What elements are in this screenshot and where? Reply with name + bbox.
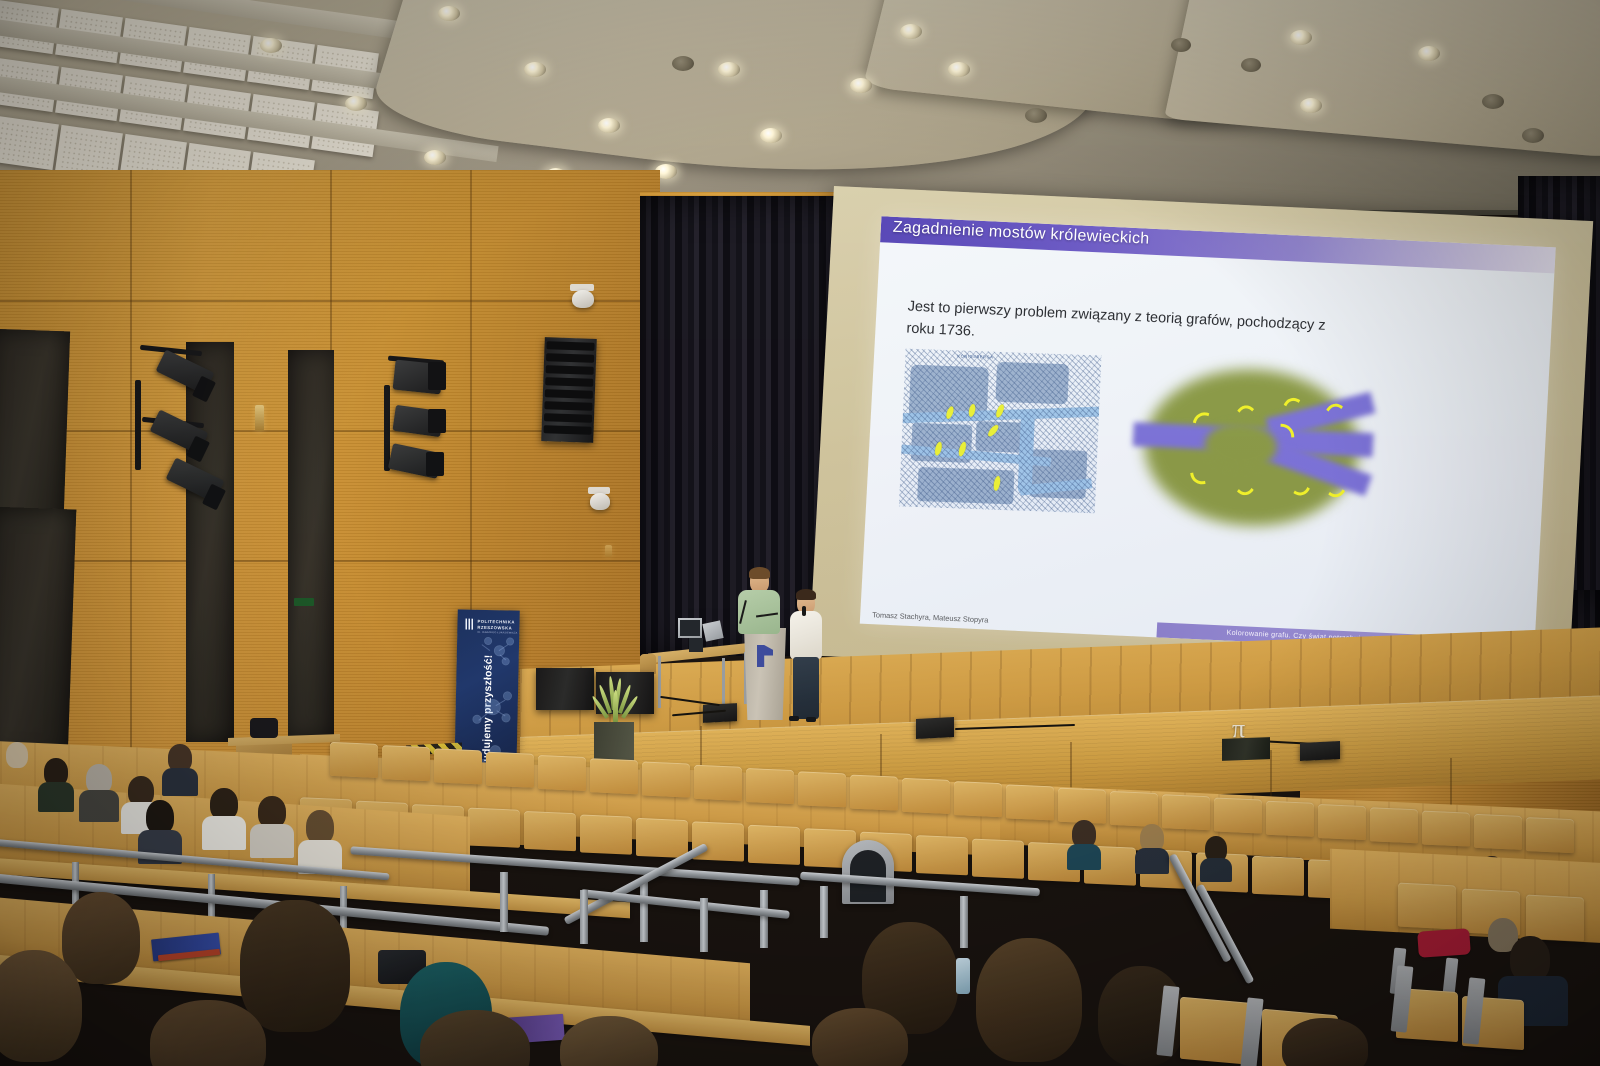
monitor-screen xyxy=(689,638,703,652)
ceiling-downlight xyxy=(1300,98,1322,113)
seat[interactable] xyxy=(850,775,898,811)
pa-speaker xyxy=(536,668,594,710)
seat[interactable] xyxy=(382,745,430,781)
spotlight-barn-door xyxy=(428,362,446,390)
seat[interactable] xyxy=(1214,797,1262,833)
seat[interactable] xyxy=(580,814,632,854)
seat[interactable] xyxy=(746,768,794,804)
seat[interactable] xyxy=(1252,856,1304,896)
seat[interactable] xyxy=(524,811,576,851)
molecule-node xyxy=(504,692,511,699)
chair xyxy=(640,654,656,674)
ceiling-downlight xyxy=(760,128,782,143)
seat[interactable] xyxy=(798,771,846,807)
ceiling-downlight xyxy=(1171,38,1191,52)
map-engraving-texture xyxy=(899,349,1102,514)
handrail-post xyxy=(700,898,708,952)
seat[interactable] xyxy=(636,818,688,858)
pi-pedestal xyxy=(1222,737,1270,761)
seat[interactable] xyxy=(1162,794,1210,830)
ceiling-downlight xyxy=(718,62,740,77)
seat[interactable] xyxy=(642,761,690,797)
seat[interactable] xyxy=(692,821,744,861)
seat[interactable] xyxy=(902,778,950,814)
stage-riser-block xyxy=(1300,741,1340,761)
red-garment xyxy=(1417,928,1471,958)
seat[interactable] xyxy=(694,765,742,801)
seat[interactable] xyxy=(748,825,800,865)
ceiling-downlight xyxy=(900,24,922,39)
monitor-screen xyxy=(680,620,700,636)
handrail-post xyxy=(960,896,968,948)
ceiling-downlight xyxy=(438,6,460,21)
projection-screen: Zagadnienie mostów królewieckich Jest to… xyxy=(809,186,1593,690)
presentation-slide: Zagadnienie mostów królewieckich Jest to… xyxy=(860,216,1556,655)
seat[interactable] xyxy=(1526,894,1584,941)
handrail-post xyxy=(760,890,768,948)
line-array-speaker xyxy=(541,337,597,443)
seat[interactable] xyxy=(1398,882,1456,929)
ceiling-downlight xyxy=(424,150,446,165)
handrail-post xyxy=(500,872,508,932)
monitor xyxy=(702,620,723,641)
ceiling-downlight xyxy=(345,96,367,111)
ceiling-downlight xyxy=(524,62,546,77)
seat[interactable] xyxy=(486,752,534,788)
desk-leg xyxy=(722,658,725,708)
handrail-post xyxy=(640,882,648,942)
university-logo-icon xyxy=(465,619,474,630)
seat[interactable] xyxy=(916,835,968,875)
ceiling-downlight xyxy=(672,56,694,71)
desk-leg xyxy=(658,656,661,708)
konigsberg-historic-map: KÖNIGSBERGA xyxy=(899,349,1102,514)
banner-org-line-3: im. IGNACEGO ŁUKASIEWICZA xyxy=(477,631,517,635)
seat[interactable] xyxy=(590,758,638,794)
bag xyxy=(250,718,278,738)
seat[interactable] xyxy=(1006,784,1054,820)
ceiling-downlight xyxy=(1290,30,1312,45)
decorative-plant xyxy=(596,676,636,726)
seat[interactable] xyxy=(1058,788,1106,824)
ceiling-downlight xyxy=(850,78,872,93)
spotlight-barn-door xyxy=(428,409,446,433)
security-camera-icon xyxy=(572,290,594,308)
security-camera-icon xyxy=(590,493,610,510)
seat[interactable] xyxy=(468,808,520,848)
slide-figures: KÖNIGSBERGA xyxy=(887,345,1536,554)
seat[interactable] xyxy=(538,755,586,791)
lectern xyxy=(744,628,786,720)
stage-monitor-speaker xyxy=(916,717,954,739)
microphone-icon xyxy=(802,606,806,616)
ceiling-downlight xyxy=(1241,58,1261,72)
ceiling-downlight xyxy=(1522,128,1544,143)
acoustic-wall-panel xyxy=(0,507,76,760)
wall-sconce-light xyxy=(605,545,612,557)
banner-org-line-1: POLITECHNIKA xyxy=(477,619,515,625)
wall-sconce-light xyxy=(255,405,264,431)
seat[interactable] xyxy=(434,748,482,784)
spotlight-barn-door xyxy=(426,452,444,476)
seat[interactable] xyxy=(330,742,378,778)
konigsberg-schematic-diagram xyxy=(1132,356,1371,538)
ceiling-downlight xyxy=(260,38,282,53)
stair-handrail-right xyxy=(1196,884,1255,985)
acoustic-panel xyxy=(0,116,59,170)
water-bottle xyxy=(956,958,970,994)
shoe xyxy=(789,716,799,721)
ceiling-downlight xyxy=(598,118,620,133)
lighting-rig-bar xyxy=(135,380,141,470)
ceiling-downlight xyxy=(1418,46,1440,61)
banner-org-line-2: RZESZOWSKA xyxy=(477,625,512,631)
molecule-node xyxy=(485,638,491,644)
handrail-post xyxy=(580,890,588,944)
lecture-hall-photo: Zagadnienie mostów królewieckich Jest to… xyxy=(0,0,1600,1066)
seat[interactable] xyxy=(1110,791,1158,827)
ceiling-downlight xyxy=(948,62,970,77)
shoe xyxy=(806,717,816,722)
exit-indicator xyxy=(294,598,314,606)
slide-footer-authors: Tomasz Stachyra, Mateusz Stopyra xyxy=(872,610,989,624)
acoustic-wall-panel xyxy=(186,342,234,742)
seat[interactable] xyxy=(972,839,1024,879)
seat[interactable] xyxy=(954,781,1002,817)
ceiling-downlight xyxy=(1025,108,1047,123)
acoustic-wall-panel xyxy=(288,350,334,740)
ceiling-downlight xyxy=(1482,94,1504,109)
handrail-post xyxy=(820,886,828,938)
